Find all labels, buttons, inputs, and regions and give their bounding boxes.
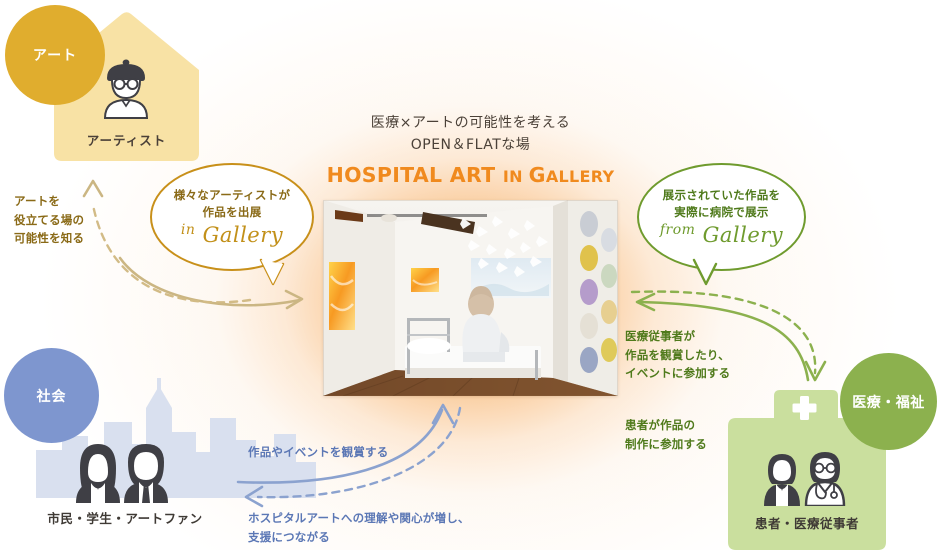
caption-society-1: 作品やイベントを観賞する xyxy=(248,443,468,462)
medical-category-label: 医療・福祉 xyxy=(852,392,925,412)
bubble-in-gallery: 様々なアーティストが 作品を出展 in Gallery xyxy=(150,163,314,271)
bubble-in-gallery-line-1: 様々なアーティストが xyxy=(174,187,291,204)
caption-society-2: ホスピタルアートへの理解や関心が増し、 支援につながる xyxy=(248,509,498,546)
tagline-line-1: 医療×アートの可能性を考える xyxy=(323,113,618,135)
society-category-circle: 社会 xyxy=(4,348,99,443)
citizens-node-label: 市民・学生・アートファン xyxy=(20,508,230,527)
logo-part-g: G xyxy=(529,163,546,187)
bubble-from-gallery-script-main: Gallery xyxy=(703,223,784,247)
bubble-in-gallery-line-2: 作品を出展 xyxy=(203,204,262,221)
hospital-cross-icon xyxy=(762,448,854,506)
bubble-from-gallery-line-1: 展示されていた作品を xyxy=(663,187,781,204)
bubble-from-gallery-script: from Gallery xyxy=(660,222,783,247)
bubble-in-gallery-tail xyxy=(255,258,289,288)
logo-part-in: IN xyxy=(503,167,529,186)
bubble-from-gallery-tail xyxy=(688,258,722,288)
center-title-block: 医療×アートの可能性を考える OPEN＆FLATな場 HOSPITAL ART … xyxy=(323,113,618,187)
citizens-icon xyxy=(74,438,174,503)
bubble-in-gallery-script: in Gallery xyxy=(181,222,283,247)
medical-node-label: 患者・医療従事者 xyxy=(722,513,892,532)
bubble-from-gallery-script-lead: from xyxy=(660,222,696,238)
society-category-label: 社会 xyxy=(37,386,67,406)
artist-icon xyxy=(95,58,157,120)
caption-art-return: アートを 役立てる場の 可能性を知る xyxy=(14,192,124,248)
caption-medical-2: 患者が作品の 制作に参加する xyxy=(625,416,755,453)
art-category-circle: アート xyxy=(5,5,105,105)
caption-medical-1: 医療従事者が 作品を観賞したり、 イベントに参加する xyxy=(625,327,775,383)
gallery-photo xyxy=(323,200,618,396)
infographic-canvas: アート アーティスト 社会 市民・学生・アートファン 医療・福祉 xyxy=(0,0,940,550)
logo-part-allery: ALLERY xyxy=(546,167,615,186)
bubble-from-gallery-line-2: 実際に病院で展示 xyxy=(674,204,768,221)
bubble-in-gallery-script-lead: in xyxy=(181,222,196,238)
bubble-in-gallery-script-main: Gallery xyxy=(203,223,284,247)
logo-part-main: HOSPITAL ART xyxy=(327,163,503,187)
tagline-line-2: OPEN＆FLATな場 xyxy=(323,135,618,156)
medical-category-circle: 医療・福祉 xyxy=(840,353,937,450)
logo-wordmark: HOSPITAL ART IN GALLERY xyxy=(323,163,618,187)
artist-node-label: アーティスト xyxy=(44,130,209,149)
bubble-from-gallery: 展示されていた作品を 実際に病院で展示 from Gallery xyxy=(637,163,806,271)
art-category-label: アート xyxy=(33,45,77,65)
